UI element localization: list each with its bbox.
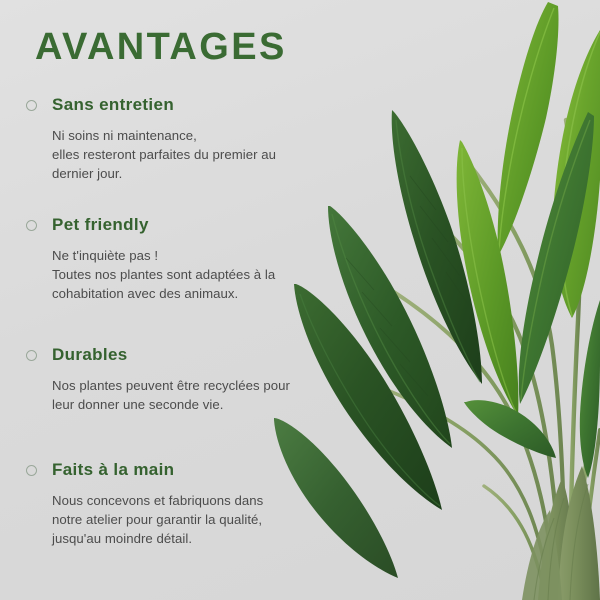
leaf-dark-upper bbox=[392, 110, 482, 384]
leaf-green-center bbox=[457, 140, 519, 416]
leaf-dark-mid bbox=[328, 206, 452, 448]
advantage-item: Pet friendly Ne t'inquiète pas ! Toutes … bbox=[26, 215, 336, 303]
advantage-title: Faits à la main bbox=[52, 460, 336, 480]
advantage-description: Nos plantes peuvent être recyclées pour … bbox=[52, 376, 336, 414]
advantage-item: Faits à la main Nous concevons et fabriq… bbox=[26, 460, 336, 548]
advantage-description: Ne t'inquiète pas ! Toutes nos plantes s… bbox=[52, 246, 336, 303]
plant-trunk bbox=[522, 466, 600, 600]
advantage-title: Pet friendly bbox=[52, 215, 336, 235]
circle-outline-icon bbox=[26, 350, 37, 361]
content-column: AVANTAGES Sans entretien Ni soins ni mai… bbox=[0, 0, 340, 600]
advantage-item: Durables Nos plantes peuvent être recycl… bbox=[26, 345, 336, 414]
advantage-heading-row: Pet friendly bbox=[26, 215, 336, 237]
circle-outline-icon bbox=[26, 220, 37, 231]
page-title: AVANTAGES bbox=[35, 28, 287, 66]
circle-outline-icon bbox=[26, 100, 37, 111]
plant-stems bbox=[366, 120, 600, 600]
leaf-bright-upper bbox=[498, 2, 559, 256]
advantage-title: Sans entretien bbox=[52, 95, 336, 115]
advantage-item: Sans entretien Ni soins ni maintenance, … bbox=[26, 95, 336, 183]
leaf-drooping-center bbox=[464, 400, 556, 458]
advantage-title: Durables bbox=[52, 345, 336, 365]
advantage-heading-row: Sans entretien bbox=[26, 95, 336, 117]
advantage-description: Nous concevons et fabriquons dans notre … bbox=[52, 491, 336, 548]
circle-outline-icon bbox=[26, 465, 37, 476]
leaf-mid-far-right bbox=[580, 300, 600, 478]
poster-canvas: AVANTAGES Sans entretien Ni soins ni mai… bbox=[0, 0, 600, 600]
advantage-description: Ni soins ni maintenance, elles resteront… bbox=[52, 126, 336, 183]
leaf-mid-right bbox=[519, 112, 594, 404]
advantage-heading-row: Durables bbox=[26, 345, 336, 367]
advantage-heading-row: Faits à la main bbox=[26, 460, 336, 482]
leaf-bright-right bbox=[553, 30, 600, 318]
